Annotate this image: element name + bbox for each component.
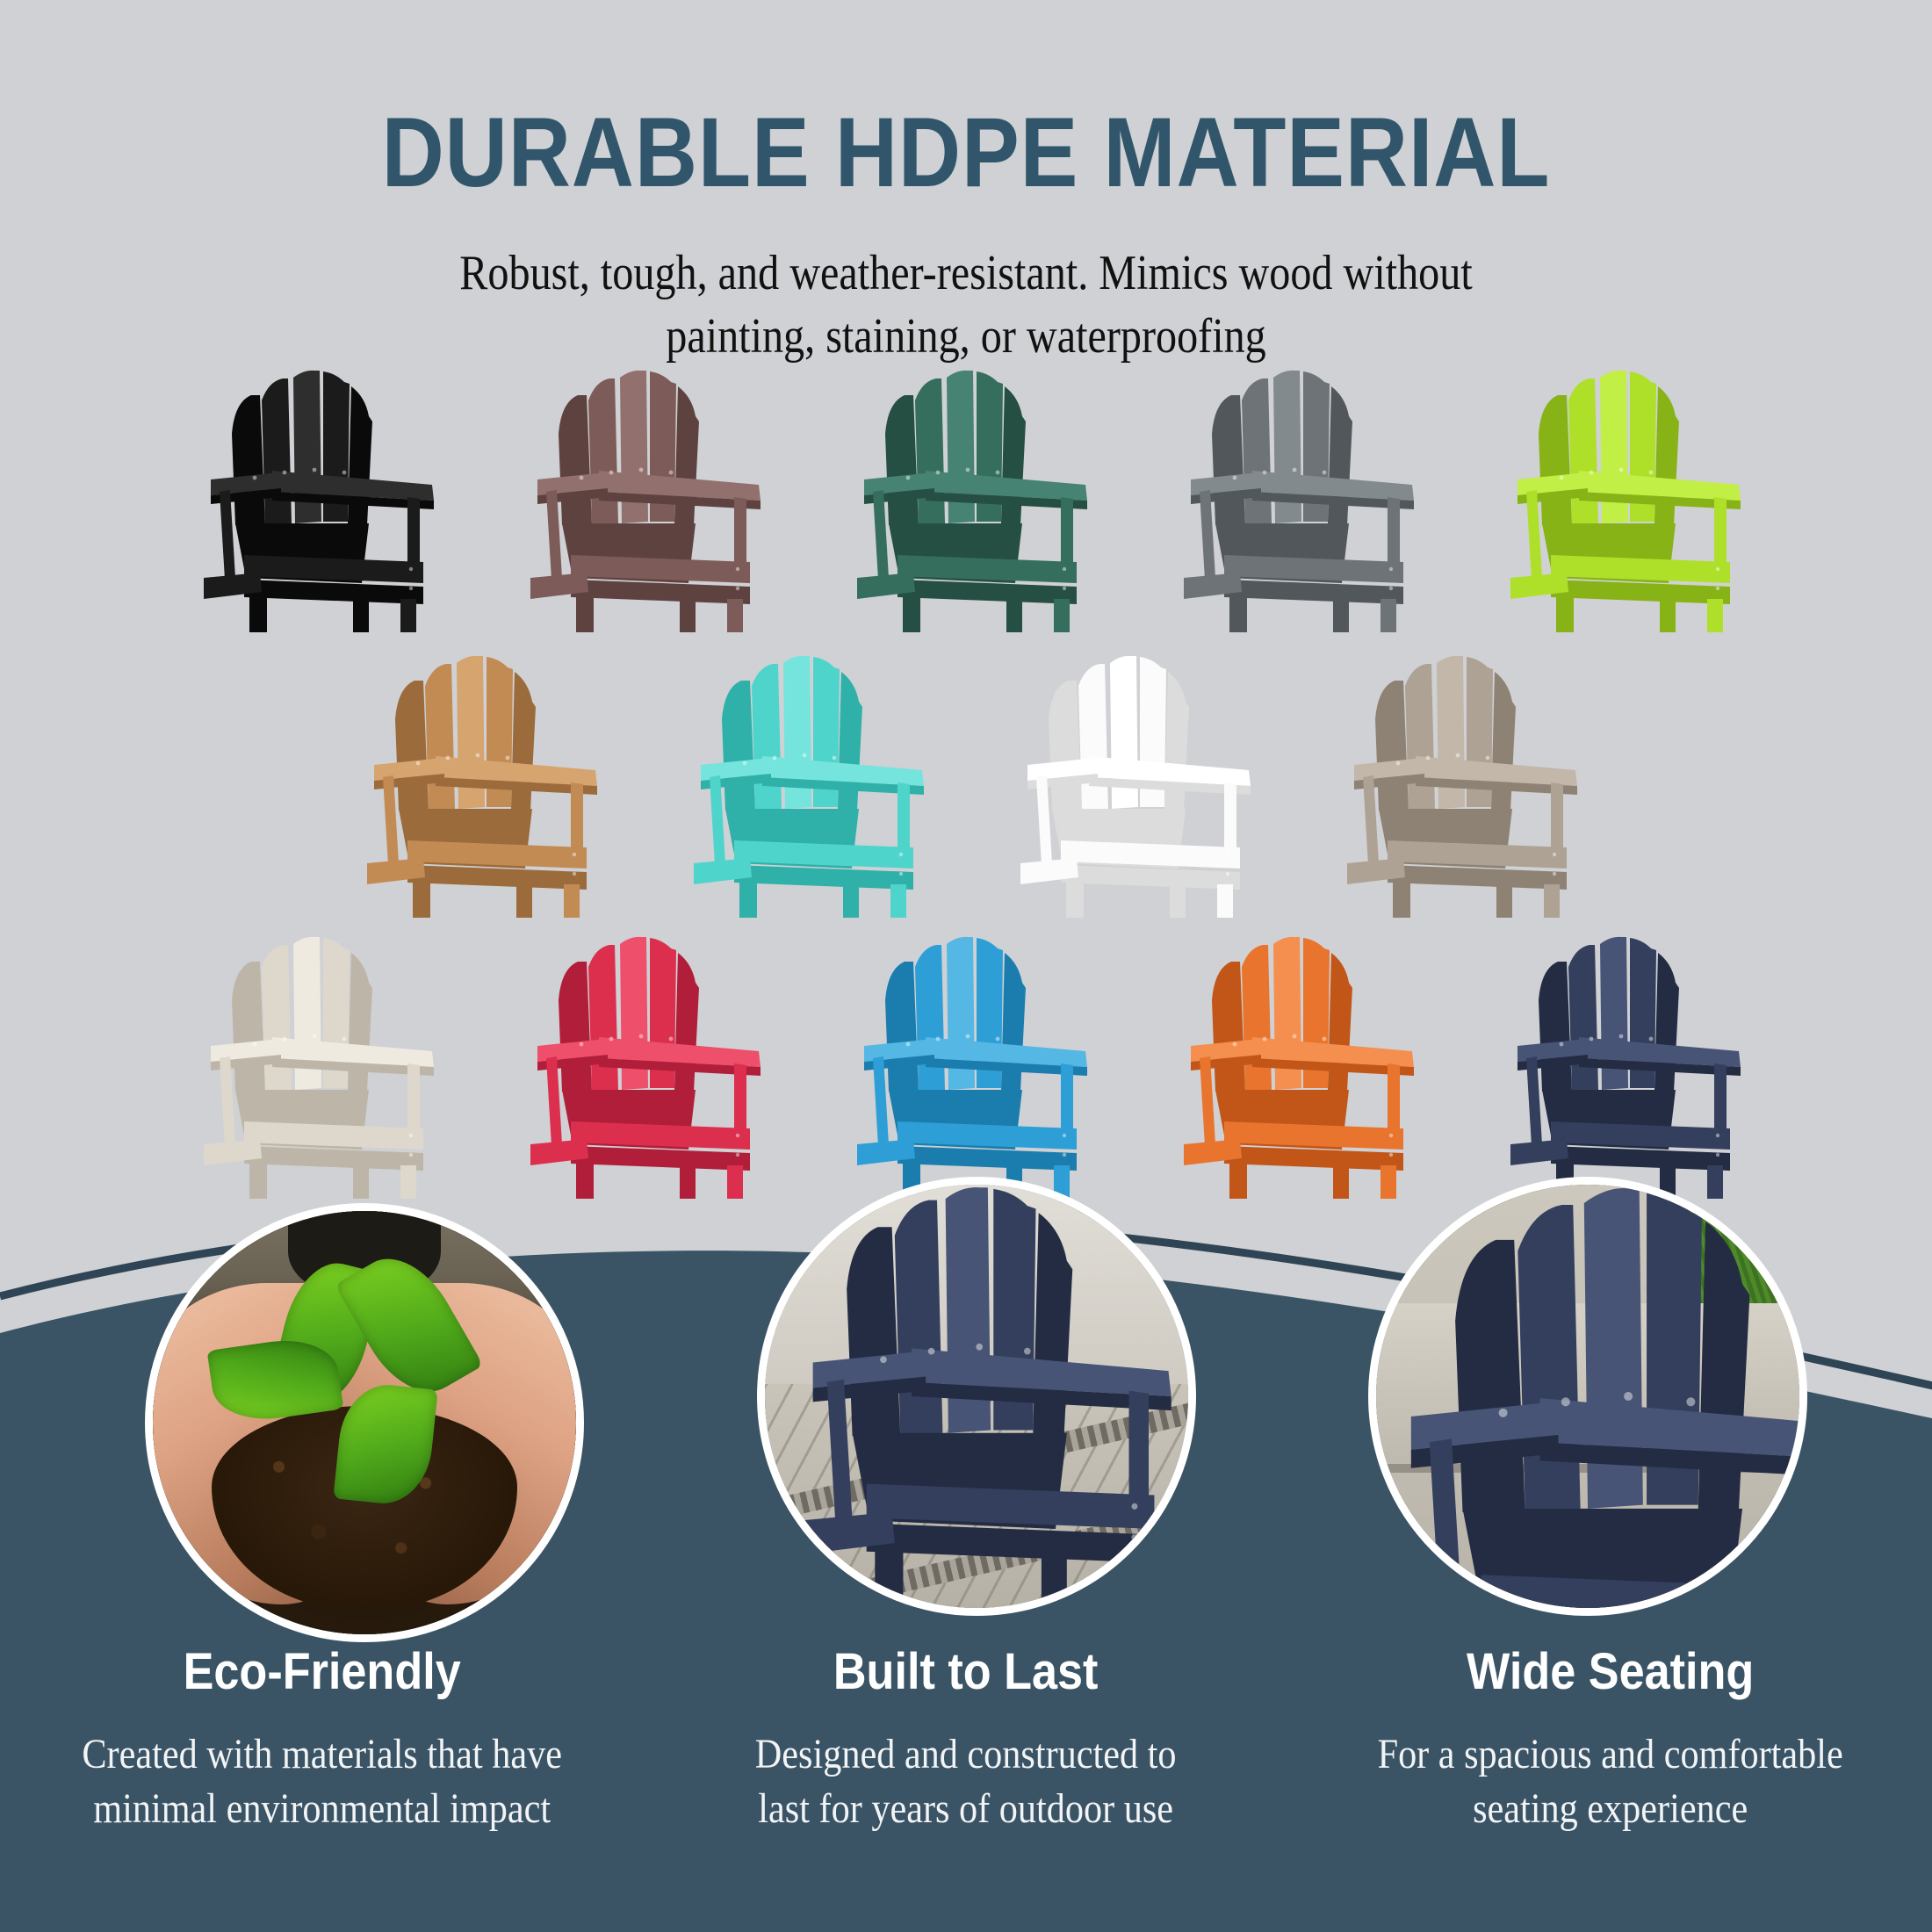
chair-front-right-leg [1217,884,1233,918]
chair-swatch-turquoise[interactable] [671,654,934,918]
chair-front-left-leg [739,879,757,918]
chair-front-right-leg [1544,884,1560,918]
feature-photos [0,1186,1932,1677]
chair-row-3 [0,935,1932,1199]
chair-left-arm-post [1526,1056,1542,1146]
adirondack-chair-illustration [834,369,1098,632]
chair-left-arm-post [827,1380,853,1524]
chair-seat-slat-bottom [1551,580,1730,604]
chair-seat-slat-bottom [898,1146,1077,1171]
chair-seat-slat-bottom [244,1146,423,1171]
feature-desc-line-1: Created with materials that have [82,1731,562,1777]
chair-rear-leg [1006,599,1022,632]
chair-rear-leg [1660,599,1676,632]
chair-front-right-leg [890,884,906,918]
chair-left-arm-post [1200,1056,1215,1146]
chair-seat-slat-bottom [1224,580,1403,604]
feature-built-to-last: Built to Last Designed and constructed t… [644,1642,1287,1837]
chair-seat-slat-bottom [571,1146,750,1171]
wide-seat-closeup-photo [1376,1185,1799,1608]
chair-swatch-khaki[interactable] [1324,654,1588,918]
feature-title: Built to Last [703,1642,1229,1701]
adirondack-chair-illustration [1488,369,1751,632]
chair-front-right-leg [1054,599,1070,632]
feature-wide-seating: Wide Seating For a spacious and comforta… [1288,1642,1932,1837]
subtitle-line-1: Robust, tough, and weather-resistant. Mi… [135,242,1797,306]
chair-swatch-ivory[interactable] [181,935,444,1199]
chair-rear-leg [1496,884,1512,918]
chair-front-right-leg [1707,599,1723,632]
chair-seat-slat-bottom [1551,1146,1730,1171]
adirondack-chair-illustration [1488,935,1751,1199]
chair-left-arm-post [710,775,725,865]
feature-desc-line-1: For a spacious and comfortable [1377,1731,1842,1777]
adirondack-chair-illustration [344,654,608,918]
adirondack-chair-illustration [834,935,1098,1199]
chair-rear-leg [843,884,859,918]
chair-rear-leg [353,599,369,632]
chair-row-2 [0,654,1932,918]
chair-front-left-leg [1556,594,1574,632]
chair-front-left-leg [903,594,920,632]
adirondack-chair-illustration [1161,935,1424,1199]
chair-rear-leg [516,884,532,918]
adirondack-chair-illustration [508,369,771,632]
subtitle-line-2: painting, staining, or waterproofing [135,306,1797,369]
seat-closeup-illustration [1376,1185,1799,1608]
chair-swatch-brown[interactable] [508,369,771,632]
chair-left-arm-post [546,1056,562,1146]
chair-left-arm-post [383,775,399,865]
chair-seat-slat-bottom [898,580,1077,604]
chair-swatch-blue[interactable] [834,935,1098,1199]
chair-front-left-leg [1393,879,1410,918]
chair-left-arm-post [1200,490,1215,580]
built-to-last-photo-circle [757,1177,1196,1616]
navy-chair-on-patio-photo [765,1185,1188,1608]
chair-rear-leg [1042,1554,1067,1608]
chair-front-right-leg [1118,1554,1143,1608]
chair-swatch-gray[interactable] [1161,369,1424,632]
chair-swatch-orange[interactable] [1161,935,1424,1199]
chair-swatch-red[interactable] [508,935,771,1199]
adirondack-chair-illustration [1161,369,1424,632]
chair-seat-slat-bottom [1061,865,1240,890]
chair-front-left-leg [413,879,430,918]
chair-front-right-leg [1381,599,1396,632]
eco-friendly-photo-circle [145,1203,584,1642]
chair-swatch-black[interactable] [181,369,444,632]
chair-left-arm-post [873,1056,889,1146]
feature-description: Designed and constructed to last for yea… [709,1727,1222,1837]
chair-seat-slat-bottom [571,580,750,604]
adirondack-chair-illustration [998,654,1261,918]
chair-swatch-navy-blue[interactable] [1488,935,1751,1199]
chair-front-right-leg [400,599,416,632]
chair-left-arm-post [220,490,235,580]
chair-seat-slat-bottom [407,865,587,890]
wide-seating-photo-circle [1368,1177,1807,1616]
chair-seat-slat-bottom [244,580,423,604]
chair-swatch-dark-green[interactable] [834,369,1098,632]
adirondack-chair-illustration [181,369,444,632]
chair-rear-leg [680,599,696,632]
chair-left-arm-post [873,490,889,580]
chair-row-1 [0,369,1932,632]
chair-left-arm-post [546,490,562,580]
chair-seat-slat-bottom [867,1524,1155,1563]
feature-list: Eco-Friendly Created with materials that… [0,1642,1932,1837]
feature-desc-line-2: minimal environmental impact [93,1785,551,1832]
chair-color-grid [0,369,1932,1247]
chair-swatch-teak[interactable] [344,654,608,918]
chair-left-arm-post [1430,1438,1463,1608]
header: DURABLE HDPE MATERIAL Robust, tough, and… [0,0,1932,368]
chair-front-left-leg [576,594,594,632]
feature-desc-line-2: last for years of outdoor use [759,1785,1174,1832]
chair-seat-slat-bottom [734,865,913,890]
chair-swatch-white[interactable] [998,654,1261,918]
adirondack-chair-illustration [1324,654,1588,918]
chair-swatch-lime-green[interactable] [1488,369,1751,632]
navy-chair-illustration [765,1185,1188,1608]
hands-holding-seedling-photo [153,1211,576,1634]
feature-desc-line-2: seating experience [1473,1785,1748,1832]
chair-rear-leg [1170,884,1186,918]
chair-seat-slat-bottom [1224,1146,1403,1171]
chair-front-left-leg [1229,594,1247,632]
page-subtitle: Robust, tough, and weather-resistant. Mi… [135,242,1797,368]
chair-left-arm-post [220,1056,235,1146]
feature-description: For a spacious and comfortable seating e… [1353,1727,1867,1837]
chair-front-left-leg [249,594,267,632]
chair-rear-leg [1333,599,1349,632]
adirondack-chair-illustration [508,935,771,1199]
feature-title: Eco-Friendly [59,1642,585,1701]
adirondack-chair-illustration [671,654,934,918]
feature-description: Created with materials that have minimal… [65,1727,579,1837]
chair-front-left-leg [875,1546,903,1608]
chair-left-arm-post [1036,775,1052,865]
feature-desc-line-1: Designed and constructed to [755,1731,1177,1777]
page-title: DURABLE HDPE MATERIAL [116,104,1816,202]
feature-eco-friendly: Eco-Friendly Created with materials that… [0,1642,644,1837]
feature-title: Wide Seating [1347,1642,1873,1701]
chair-front-left-leg [1066,879,1084,918]
chair-left-arm-post [1526,490,1542,580]
chair-left-arm-post [1363,775,1379,865]
chair-front-right-leg [564,884,580,918]
chair-seat-slat-bottom [1388,865,1567,890]
adirondack-chair-illustration [181,935,444,1199]
chair-front-right-leg [727,599,743,632]
